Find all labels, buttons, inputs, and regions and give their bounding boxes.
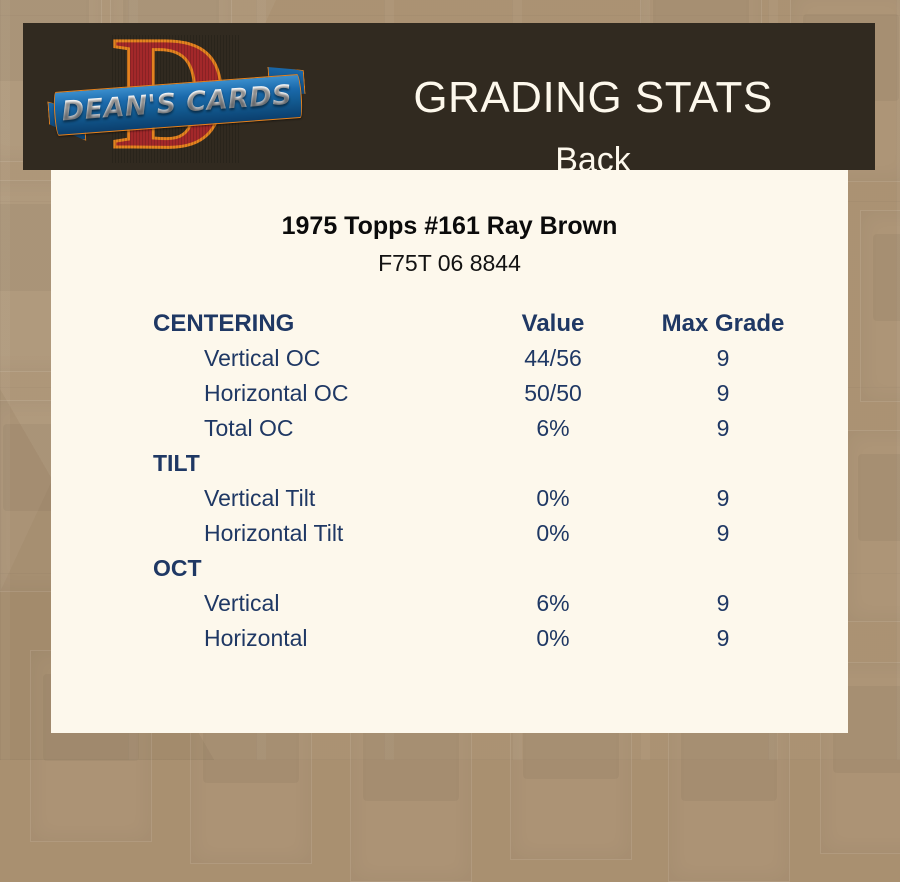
deans-cards-logo[interactable]: D DEAN'S CARDS bbox=[48, 27, 308, 167]
row-max-grade: 9 bbox=[623, 625, 823, 652]
row-label: Horizontal bbox=[204, 625, 308, 652]
page-title: GRADING STATS bbox=[313, 73, 873, 123]
table-row: Vertical OC 44/56 9 bbox=[51, 345, 848, 380]
table-section-row: OCT bbox=[51, 555, 848, 590]
row-label: Vertical Tilt bbox=[204, 485, 315, 512]
table-row: Vertical 6% 9 bbox=[51, 590, 848, 625]
row-label: Vertical OC bbox=[204, 345, 320, 372]
row-max-grade: 9 bbox=[623, 345, 823, 372]
table-row: Total OC 6% 9 bbox=[51, 415, 848, 450]
table-row: Horizontal OC 50/50 9 bbox=[51, 380, 848, 415]
background-card-thumbnail bbox=[860, 210, 900, 402]
content-panel: 1975 Topps #161 Ray Brown F75T 06 8844 C… bbox=[51, 170, 848, 733]
row-max-grade: 9 bbox=[623, 590, 823, 617]
card-title: 1975 Topps #161 Ray Brown bbox=[51, 212, 848, 241]
background-card-thumbnail bbox=[845, 430, 900, 622]
card-serial-number: F75T 06 8844 bbox=[51, 250, 848, 277]
table-row: Vertical Tilt 0% 9 bbox=[51, 485, 848, 520]
row-label: Horizontal OC bbox=[204, 380, 348, 407]
grading-stats-table: CENTERING Value Max Grade Vertical OC 44… bbox=[51, 310, 848, 660]
table-section-row: TILT bbox=[51, 450, 848, 485]
column-header-max-grade: Max Grade bbox=[623, 310, 823, 338]
section-header-oct: OCT bbox=[153, 555, 202, 582]
row-max-grade: 9 bbox=[623, 485, 823, 512]
page-subtitle: Back bbox=[313, 141, 873, 180]
logo-banner: DEAN'S CARDS bbox=[46, 70, 307, 141]
row-label: Total OC bbox=[204, 415, 293, 442]
row-max-grade: 9 bbox=[623, 380, 823, 407]
row-label: Vertical bbox=[204, 590, 279, 617]
row-label: Horizontal Tilt bbox=[204, 520, 343, 547]
table-row: Horizontal 0% 9 bbox=[51, 625, 848, 660]
row-max-grade: 9 bbox=[623, 415, 823, 442]
table-header-row: CENTERING Value Max Grade bbox=[51, 310, 848, 345]
table-row: Horizontal Tilt 0% 9 bbox=[51, 520, 848, 555]
column-header-category: CENTERING bbox=[153, 310, 294, 338]
section-header-tilt: TILT bbox=[153, 450, 200, 477]
row-max-grade: 9 bbox=[623, 520, 823, 547]
header-bar: D DEAN'S CARDS GRADING STATS Back bbox=[23, 23, 875, 170]
